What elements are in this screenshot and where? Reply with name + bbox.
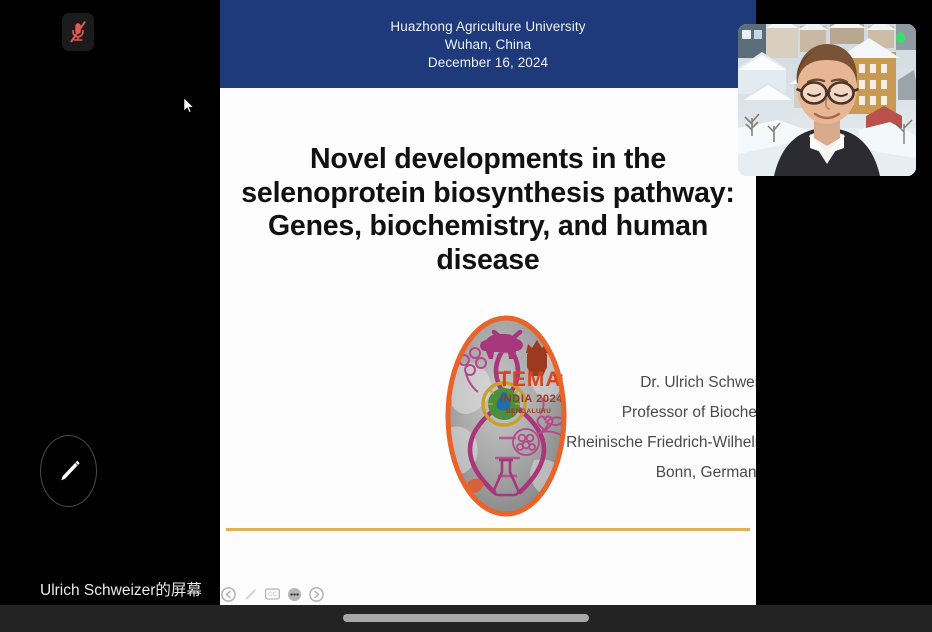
participant-video-thumbnail[interactable] — [738, 24, 916, 176]
meeting-share-view: Huazhong Agriculture University Wuhan, C… — [0, 0, 932, 632]
annotate-pencil-button[interactable] — [40, 435, 97, 507]
shared-screen-slide[interactable]: Huazhong Agriculture University Wuhan, C… — [220, 0, 756, 605]
svg-text:CC: CC — [268, 591, 277, 598]
slide-footer-rule — [226, 528, 750, 531]
slide-player-toolbar[interactable]: CC — [218, 584, 327, 604]
svg-text:BENGALURU: BENGALURU — [506, 408, 551, 415]
slide-title-line-3: Genes, biochemistry, and human disease — [220, 210, 756, 277]
previous-slide-button[interactable] — [221, 587, 236, 602]
more-options-button[interactable] — [287, 587, 302, 602]
mouse-pointer-icon — [183, 97, 195, 115]
closed-captions-button[interactable]: CC — [265, 587, 280, 602]
slide-title-line-1: Novel developments in the — [220, 143, 756, 177]
pencil-icon — [54, 456, 84, 486]
scrollbar-thumb[interactable] — [343, 614, 589, 622]
slide-header-line2: Wuhan, China — [445, 37, 532, 52]
annotate-tool-button[interactable] — [243, 587, 258, 602]
slide-title: Novel developments in the selenoprotein … — [220, 143, 756, 278]
slide-header-line3: December 16, 2024 — [428, 55, 548, 70]
share-caption-label: Ulrich Schweizer的屏幕 — [40, 578, 202, 600]
next-slide-button[interactable] — [309, 587, 324, 602]
more-options-icon — [287, 587, 302, 602]
horizontal-scrollbar[interactable] — [0, 605, 932, 632]
tema-conference-emblem: TEMA 18 INDIA 2024 BENGALURU — [442, 310, 570, 522]
slide-header-line1: Huazhong Agriculture University — [390, 19, 585, 34]
arrow-back-circle-icon — [221, 587, 236, 602]
microphone-muted-badge[interactable] — [62, 13, 94, 51]
slide-header-band: Huazhong Agriculture University Wuhan, C… — [220, 0, 756, 88]
microphone-muted-icon — [68, 20, 88, 44]
closed-captions-icon: CC — [265, 588, 280, 600]
activity-indicator-dot — [896, 32, 905, 43]
slide-title-line-2: selenoprotein biosynthesis pathway: — [220, 177, 756, 211]
pen-icon — [243, 587, 258, 602]
svg-text:INDIA 2024: INDIA 2024 — [500, 393, 563, 405]
arrow-forward-circle-icon — [309, 587, 324, 602]
video-frame — [738, 24, 916, 176]
